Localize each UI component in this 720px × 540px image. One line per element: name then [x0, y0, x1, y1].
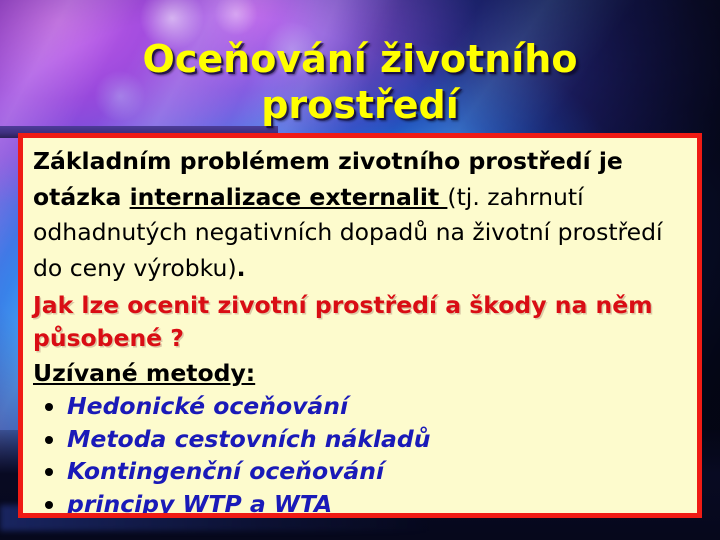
list-item-label: Metoda cestovních nákladů — [67, 425, 430, 453]
intro-segment-underlined: internalizace externalit — [130, 183, 448, 211]
presentation-slide: Oceňování životního prostředí Základním … — [0, 0, 720, 540]
intro-paragraph: Základním problémem zivotního prostředí … — [33, 144, 689, 286]
list-item-label: Kontingenční oceňování — [67, 457, 384, 485]
methods-heading-wrap: Uzívané metody: — [33, 355, 689, 390]
list-item-label: Hedonické oceňování — [67, 392, 348, 420]
list-item: Kontingenční oceňování — [33, 455, 689, 488]
bullet-icon — [45, 468, 53, 476]
bullet-icon — [45, 436, 53, 444]
list-item: Metoda cestovních nákladů — [33, 423, 689, 456]
slide-title: Oceňování životního prostředí — [0, 36, 720, 128]
bullet-icon — [45, 403, 53, 411]
list-item: Hedonické oceňování — [33, 390, 689, 423]
methods-list: Hedonické oceňování Metoda cestovních ná… — [33, 390, 689, 518]
bullet-icon — [45, 501, 53, 509]
question-line: Jak lze ocenit zivotní prostředí a škody… — [33, 289, 689, 355]
methods-heading: Uzívané metody: — [33, 356, 255, 390]
list-item-label: principy WTP a WTA — [67, 490, 332, 518]
intro-segment-bold-period: . — [237, 254, 246, 282]
list-item: principy WTP a WTA — [33, 488, 689, 519]
content-box: Základním problémem zivotního prostředí … — [18, 133, 702, 518]
